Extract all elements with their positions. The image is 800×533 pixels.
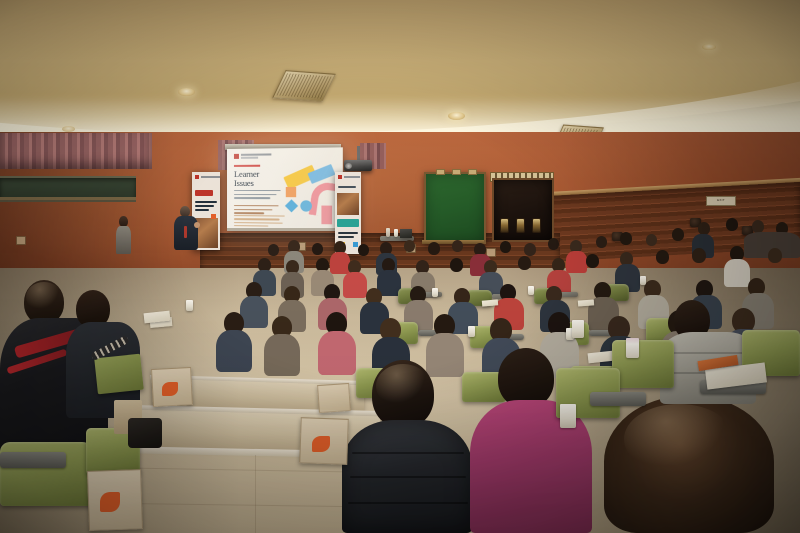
board-clip-icon: [468, 169, 477, 175]
exit-sign: EXIT: [706, 196, 736, 206]
jacket-quilt-line: [352, 452, 464, 454]
audience-head: [620, 232, 632, 245]
banner-subhead: [338, 186, 356, 188]
paper-cup: [572, 320, 584, 338]
cardboard-box: [317, 383, 351, 413]
paper-cup: [186, 300, 193, 311]
banner-photo-right: [337, 193, 359, 215]
ceiling: [0, 0, 800, 152]
paper-cup-with-lid: [626, 338, 639, 358]
banner-accent-square: [353, 242, 358, 247]
wall-outlet: [16, 236, 26, 245]
tablet-arm: [0, 452, 66, 468]
paper-cup: [528, 286, 534, 295]
av-knob[interactable]: [532, 218, 541, 233]
banner-wordmark: [344, 176, 360, 178]
slide-title: Learner Issues: [234, 170, 259, 188]
audience-head: [312, 243, 323, 255]
audience-head: [518, 256, 531, 270]
slide-shape-orange-square: [286, 187, 296, 197]
tablet-arm: [590, 392, 646, 406]
audience-torso: [724, 259, 750, 287]
banner-pill-left: [195, 190, 213, 196]
audience-torso: [330, 252, 350, 274]
audience-torso: [426, 333, 464, 377]
audience-head: [586, 254, 599, 268]
hair-highlight: [376, 364, 430, 408]
audience-torso: [264, 334, 300, 376]
box-logo-icon: [162, 382, 178, 396]
presenter-lanyard: [184, 226, 187, 238]
board-clip-icon: [452, 169, 461, 175]
slide-logo: [234, 153, 271, 158]
bottle: [386, 228, 390, 237]
jacket-quilt-line: [350, 476, 466, 478]
projector-lens-icon: [345, 163, 352, 169]
banner-headline: [195, 205, 214, 207]
audience-torso: [566, 251, 587, 273]
audience-head: [428, 242, 440, 255]
notepad: [578, 299, 594, 306]
slide-shape-pink-bar: [321, 206, 332, 225]
handbag: [128, 418, 162, 448]
slide-shape-blue-circle: [300, 200, 312, 211]
banner-headline: [195, 209, 209, 211]
audience-head: [500, 241, 511, 253]
logo-wordmark: [241, 154, 271, 156]
av-knob[interactable]: [516, 218, 525, 233]
jacket-quilt-line: [666, 352, 750, 354]
paper-cup: [432, 288, 438, 297]
paper-cup: [560, 404, 576, 428]
slide-shape-blue-diamond: [285, 199, 298, 212]
shoulder-bag: [94, 354, 144, 395]
banner-logo-left: [195, 175, 220, 179]
bottle: [394, 229, 398, 237]
audience-head: [646, 234, 657, 246]
green-chalkboard: [424, 172, 486, 244]
slide-title-line2: Issues: [234, 179, 259, 188]
audience-head: [524, 243, 536, 256]
paper-cup: [468, 326, 475, 337]
audience-head: [452, 240, 463, 252]
audience-head: [692, 248, 706, 263]
banner-logo-right: [338, 175, 360, 179]
logo-subtext: [241, 157, 258, 159]
tablet-arm: [560, 292, 578, 297]
assistant-torso: [116, 226, 131, 254]
banner-teal-band: [337, 219, 359, 227]
audience-head: [268, 244, 279, 256]
audience-torso: [343, 272, 367, 298]
equipment-case: [400, 229, 412, 238]
banner-wordmark: [201, 176, 221, 178]
projection-screen: Learner Issues: [227, 147, 343, 230]
audience-torso: [240, 296, 268, 328]
banner-headline: [338, 232, 358, 234]
audience-head-foreground: [498, 348, 554, 408]
av-knob[interactable]: [500, 218, 509, 233]
banner-headline: [195, 201, 217, 203]
box-logo-icon: [100, 492, 120, 512]
slide-body-text: [234, 190, 283, 201]
banner-logo-mark-icon: [195, 175, 199, 179]
presenter-hand: [194, 222, 200, 228]
slide-eyebrow-rule: [234, 165, 260, 167]
lecture-chair: [612, 340, 674, 388]
curtain-left: [0, 133, 152, 169]
audience-head: [404, 240, 415, 252]
audience-head: [358, 244, 369, 256]
jacket-quilt-line: [348, 502, 468, 504]
banner-accent-square: [211, 214, 216, 219]
hair-highlight: [624, 404, 734, 474]
slide-footer-text: [234, 215, 285, 229]
audience-head: [596, 236, 607, 248]
hair-highlight: [26, 282, 62, 312]
paper-cup: [640, 276, 646, 285]
audience-head: [768, 248, 782, 263]
screen-bottom-bar: [227, 228, 339, 231]
box-logo-icon: [312, 436, 330, 452]
audience-head: [656, 250, 669, 264]
chalk-rail-left: [0, 197, 136, 200]
audience-torso: [216, 330, 252, 372]
audience-torso: [318, 331, 356, 375]
banner-logo-mark-icon: [338, 175, 342, 179]
audience-head: [548, 238, 559, 250]
logo-mark-icon: [234, 154, 239, 159]
lecture-hall-photo: EXIT Learner Issues: [0, 0, 800, 533]
audience-head: [726, 218, 738, 231]
audience-head: [672, 228, 684, 241]
banner-headline: [338, 236, 354, 238]
audience-head: [450, 258, 463, 272]
board-clip-icon: [436, 169, 445, 175]
